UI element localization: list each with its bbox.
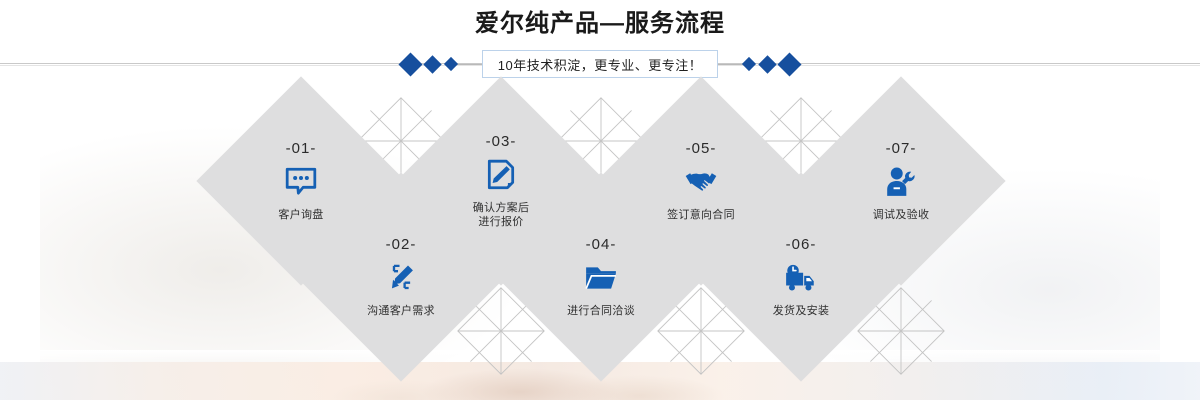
folder-open-icon xyxy=(584,261,618,295)
chat-bubble-icon xyxy=(284,165,318,199)
step-label: 沟通客户需求 xyxy=(367,304,435,318)
step-number: -01- xyxy=(286,141,317,157)
step-label: 签订意向合同 xyxy=(667,208,735,222)
document-pencil-icon xyxy=(484,158,518,192)
step-label: 进行合同洽谈 xyxy=(567,304,635,318)
step-number: -07- xyxy=(886,141,917,157)
process-flow-grid: -01- 客户询盘 -02- xyxy=(0,0,1200,400)
flow-diagram-page: 爱尔纯产品—服务流程 10年技术积淀，更专业、更专注！ -01- xyxy=(0,0,1200,400)
process-step-card-7[interactable]: -07- 调试及验收 xyxy=(796,76,1005,285)
person-wrench-icon xyxy=(884,165,918,199)
handshake-icon xyxy=(684,165,718,199)
step-number: -06- xyxy=(786,237,817,253)
pencils-icon xyxy=(384,261,418,295)
step-label: 发货及安装 xyxy=(773,304,830,318)
step-number: -05- xyxy=(686,141,717,157)
step-label: 客户询盘 xyxy=(278,208,323,222)
step-label: 调试及验收 xyxy=(873,208,930,222)
step-number: -02- xyxy=(386,237,417,253)
step-label: 确认方案后 进行报价 xyxy=(473,201,530,229)
truck-clock-icon xyxy=(784,261,818,295)
step-number: -04- xyxy=(586,237,617,253)
step-number: -03- xyxy=(486,134,517,150)
